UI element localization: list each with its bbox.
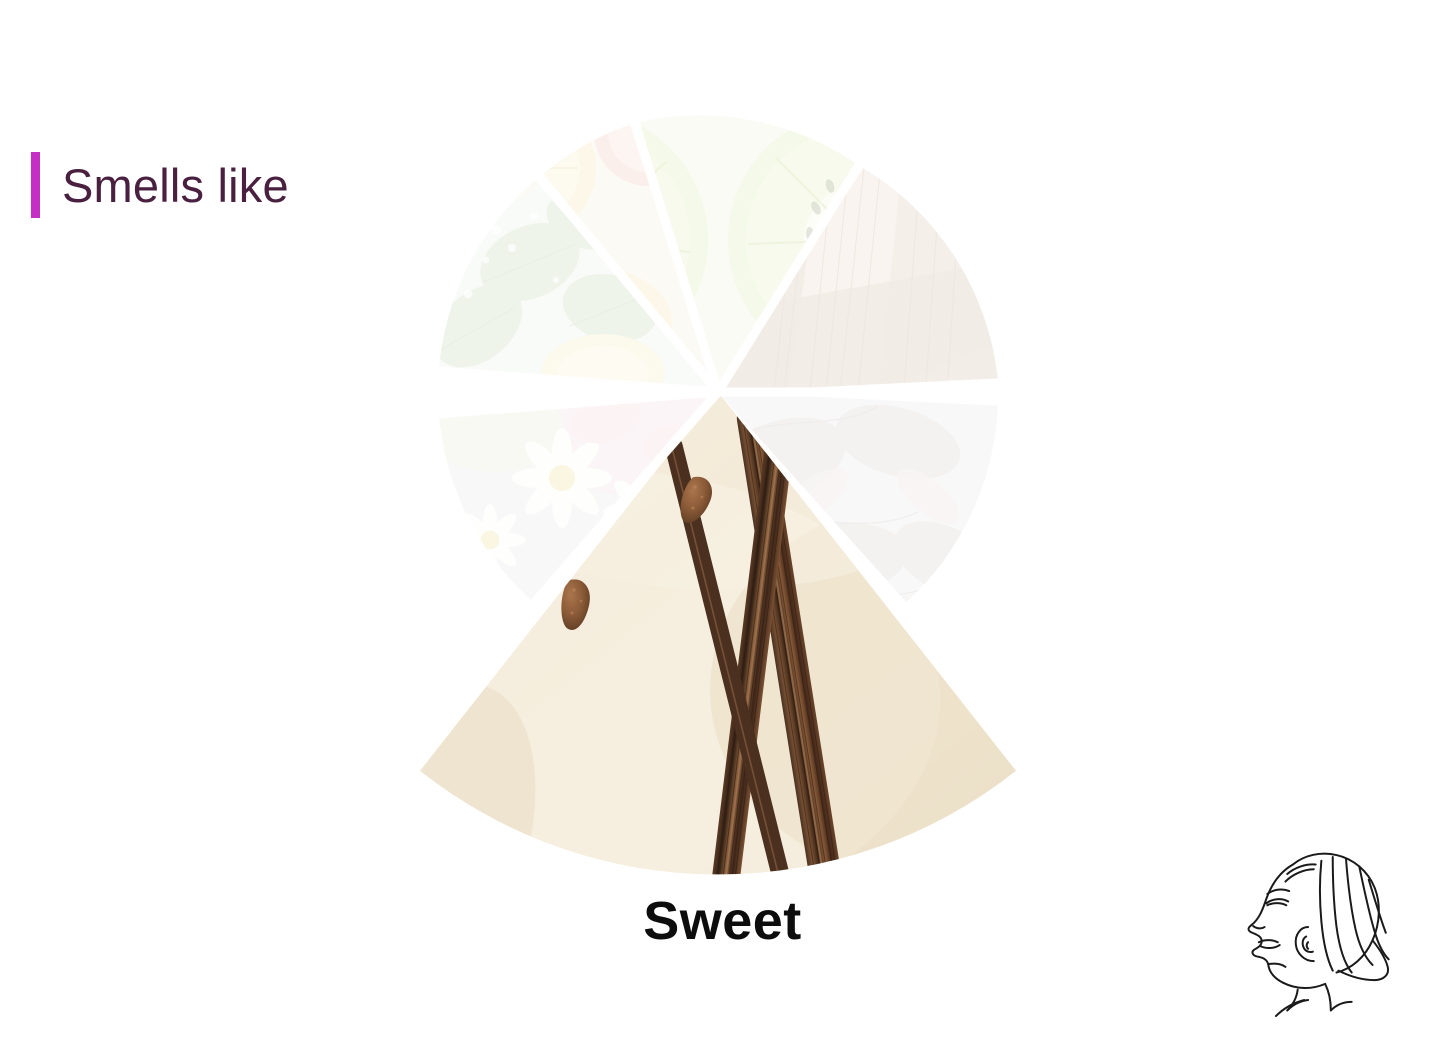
page-header: Smells like [31,152,289,218]
pie-slice-herbal[interactable] [439,180,718,392]
page-title: Smells like [62,162,289,209]
pie-slice-spicy[interactable] [718,392,998,602]
selected-scent-label: Sweet [0,894,1445,948]
pie-slice-floral[interactable] [439,392,718,600]
clove [526,488,570,543]
pie-slice-citrus[interactable] [543,125,718,392]
clove [559,578,592,630]
pie-slice-woody[interactable] [718,168,998,392]
pie-slice-fruity[interactable] [640,115,856,392]
clove [1021,621,1067,676]
face-profile-svg [1238,838,1418,1018]
wheel-base-slices [439,115,998,602]
accent-bar [31,152,40,218]
face-smelling-profile-icon [1238,838,1418,1018]
clove [678,475,714,526]
slice-separators [438,123,998,603]
pie-slice-sweet-highlighted[interactable] [260,350,1150,930]
